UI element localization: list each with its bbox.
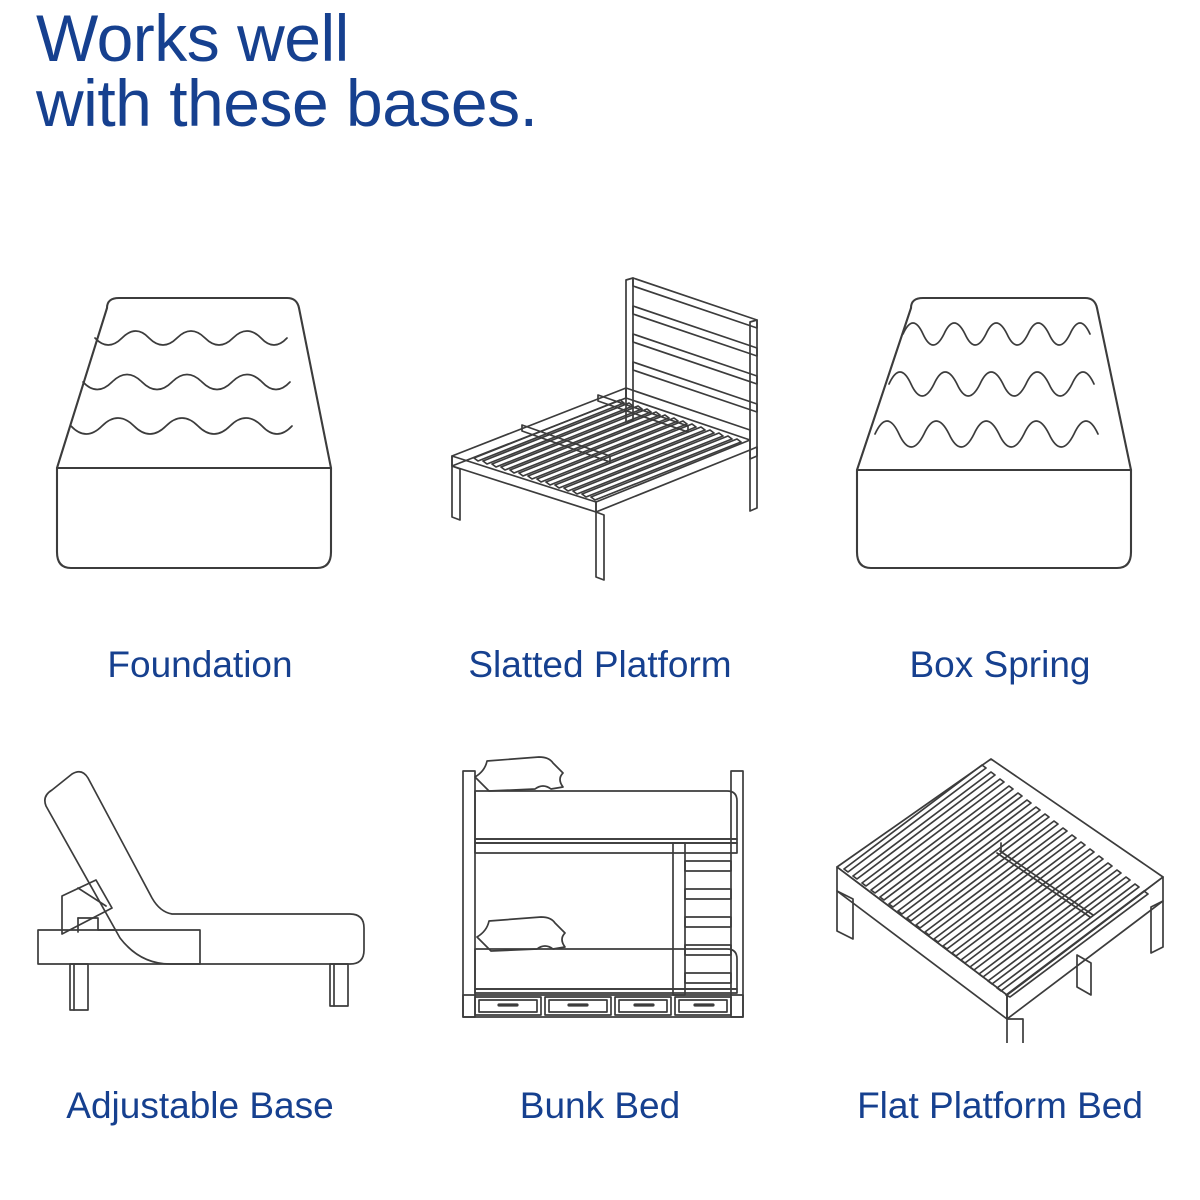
base-label-slatted-platform: Slatted Platform	[468, 644, 731, 686]
base-card-adjustable-base[interactable]: Adjustable Base	[0, 720, 400, 1200]
base-card-foundation[interactable]: Foundation	[0, 250, 400, 720]
base-label-box-spring: Box Spring	[910, 644, 1091, 686]
base-card-box-spring[interactable]: Box Spring	[800, 250, 1200, 720]
base-card-flat-platform-bed[interactable]: Flat Platform Bed	[800, 720, 1200, 1200]
foundation-mattress-illustration	[0, 250, 400, 630]
slatted-platform-bed-illustration	[400, 250, 800, 630]
bunk-bed-illustration	[400, 720, 800, 1065]
base-label-foundation: Foundation	[107, 644, 292, 686]
adjustable-base-illustration	[0, 720, 400, 1065]
base-label-flat-platform-bed: Flat Platform Bed	[857, 1085, 1143, 1127]
bases-grid: Foundation	[0, 250, 1200, 1200]
base-label-adjustable-base: Adjustable Base	[66, 1085, 333, 1127]
base-card-bunk-bed[interactable]: Bunk Bed	[400, 720, 800, 1200]
flat-platform-bed-illustration	[800, 720, 1200, 1065]
box-spring-illustration	[800, 250, 1200, 630]
page-title: Works well with these bases.	[36, 6, 796, 135]
bed-bases-infographic: Works well with these bases. Foundati	[0, 0, 1200, 1200]
base-card-slatted-platform[interactable]: Slatted Platform	[400, 250, 800, 720]
base-label-bunk-bed: Bunk Bed	[520, 1085, 680, 1127]
